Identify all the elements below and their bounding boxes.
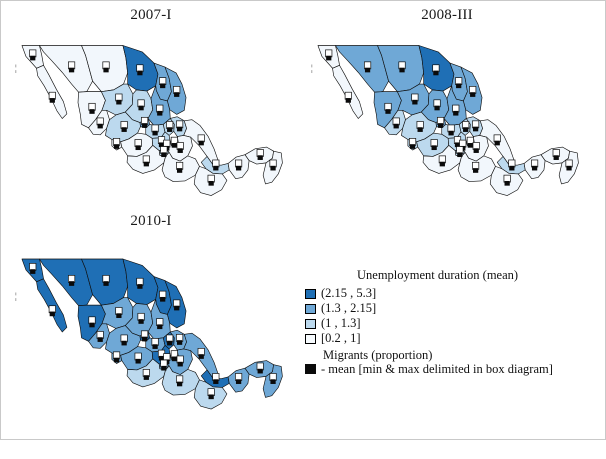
migrant-box-marker (176, 334, 182, 345)
migrant-mean-square (258, 369, 263, 374)
migrant-mean-square (412, 100, 417, 105)
legend-swatch-migrants-mean (305, 364, 316, 374)
migrant-mean-square (167, 341, 172, 346)
migrant-box-marker (141, 117, 147, 128)
migrant-mean-square (138, 106, 143, 111)
map-canvas-2010-i (5, 233, 297, 459)
migrant-mean-square (213, 379, 218, 384)
migrant-mean-square (177, 168, 182, 173)
migrant-mean-square (394, 124, 399, 129)
panel-title-2010-i: 2010-I (5, 213, 297, 230)
migrant-box-marker (137, 278, 143, 289)
migrant-box-marker (412, 94, 418, 105)
migrant-box-marker (437, 117, 443, 128)
migrant-box-marker (566, 160, 572, 171)
map-panel-2010-i: 2010-I (5, 213, 297, 439)
migrant-box-marker (504, 175, 510, 186)
migrant-box-marker (176, 162, 182, 173)
migrant-box-marker (138, 100, 144, 111)
map-canvas-2008-iii (301, 27, 593, 235)
migrant-mean-square (174, 306, 179, 311)
migrant-mean-square (209, 394, 214, 399)
migrant-box-marker (137, 65, 143, 76)
migrant-mean-square (456, 83, 461, 88)
migrant-box-marker (49, 92, 55, 103)
migrant-mean-square (346, 98, 351, 103)
legend-label-class-2: (1.3 , 2.15] (321, 302, 376, 315)
legend-title: Unemployment duration (mean) (357, 269, 601, 282)
migrant-box-marker (453, 105, 459, 116)
migrant-box-marker (166, 335, 172, 346)
legend-item-migrants: - mean [min & max delimited in box diagr… (301, 362, 601, 376)
map-panel-2007-i: 2007-I (5, 7, 297, 215)
migrant-mean-square (270, 166, 275, 171)
migrant-mean-square (410, 144, 415, 149)
migrant-box-marker (473, 142, 479, 153)
migrant-mean-square (236, 379, 241, 384)
migrant-mean-square (473, 127, 478, 132)
migrant-mean-square (69, 281, 74, 286)
migrant-mean-square (438, 123, 443, 128)
migrant-box-marker (431, 140, 437, 151)
migrant-mean-square (418, 127, 423, 132)
migrant-box-marker (235, 160, 241, 171)
migrant-box-marker (326, 50, 332, 61)
migrant-mean-square (457, 152, 462, 157)
migrant-mean-square (30, 56, 35, 61)
mexico-choropleth (5, 233, 297, 438)
map-edge-tick: ¦ (311, 63, 313, 73)
migrant-mean-square (199, 141, 204, 146)
migrant-box-marker (531, 160, 537, 171)
migrant-mean-square (103, 281, 108, 286)
migrant-box-marker (161, 147, 167, 158)
migrant-box-marker (439, 156, 445, 167)
migrant-box-marker (135, 140, 141, 151)
migrant-box-marker (448, 125, 454, 136)
migrant-box-marker (116, 94, 122, 105)
migrant-mean-square (167, 127, 172, 132)
migrant-box-marker (173, 300, 179, 311)
migrant-mean-square (434, 106, 439, 111)
migrant-mean-square (177, 340, 182, 345)
migrant-mean-square (270, 379, 275, 384)
migrant-mean-square (114, 144, 119, 149)
legend-item-class-1: (2.15 , 5.3] (301, 287, 601, 301)
migrant-box-marker (159, 291, 165, 302)
panel-title-2008-iii: 2008-III (301, 7, 593, 24)
migrant-box-marker (393, 118, 399, 129)
migrant-box-marker (433, 65, 439, 76)
migrant-box-marker (49, 306, 55, 317)
migrant-box-marker (462, 121, 468, 132)
migrant-mean-square (432, 145, 437, 150)
migrant-box-marker (161, 360, 167, 371)
migrant-mean-square (474, 148, 479, 153)
map-edge-tick: ¦ (15, 291, 17, 301)
legend: Unemployment duration (mean) (2.15 , 5.3… (301, 269, 601, 389)
migrant-mean-square (152, 344, 157, 349)
migrant-box-marker (455, 78, 461, 89)
migrant-mean-square (473, 168, 478, 173)
migrant-mean-square (199, 354, 204, 359)
migrant-box-marker (113, 138, 119, 149)
migrant-box-marker (457, 147, 463, 158)
migrant-box-marker (177, 142, 183, 153)
migrant-box-marker (89, 317, 95, 328)
migrant-box-marker (208, 389, 214, 400)
migrant-box-marker (141, 331, 147, 342)
migrant-box-marker (173, 86, 179, 97)
legend-migrants-title: Migrants (proportion) (323, 349, 601, 362)
migrant-box-marker (434, 100, 440, 111)
legend-label-class-1: (2.15 , 5.3] (321, 287, 376, 300)
migrant-mean-square (365, 68, 370, 73)
migrant-box-marker (472, 162, 478, 173)
migrant-mean-square (144, 375, 149, 380)
migrant-mean-square (142, 337, 147, 342)
migrant-mean-square (69, 68, 74, 73)
migrant-box-marker (198, 135, 204, 146)
migrant-box-marker (143, 369, 149, 380)
migrant-box-marker (257, 149, 263, 160)
migrant-mean-square (89, 109, 94, 114)
legend-swatch-class-2 (305, 304, 316, 314)
migrant-mean-square (258, 155, 263, 160)
migrant-mean-square (505, 181, 510, 186)
migrant-mean-square (137, 284, 142, 289)
migrant-mean-square (161, 152, 166, 157)
migrant-mean-square (399, 68, 404, 73)
migrant-mean-square (453, 111, 458, 116)
migrant-mean-square (554, 155, 559, 160)
migrant-mean-square (468, 143, 473, 148)
migrant-box-marker (30, 50, 36, 61)
migrant-box-marker (469, 86, 475, 97)
migrant-box-marker (467, 137, 473, 148)
migrant-mean-square (385, 109, 390, 114)
migrant-box-marker (68, 62, 74, 73)
migrant-mean-square (157, 324, 162, 329)
panel-title-2007-i: 2007-I (5, 7, 297, 24)
migrant-box-marker (157, 105, 163, 116)
migrant-box-marker (97, 118, 103, 129)
migrant-mean-square (470, 92, 475, 97)
migrant-mean-square (160, 297, 165, 302)
legend-item-class-4: [0.2 , 1] (301, 332, 601, 346)
mexico-choropleth (301, 27, 593, 217)
migrant-mean-square (116, 100, 121, 105)
migrant-mean-square (509, 166, 514, 171)
migrant-mean-square (236, 166, 241, 171)
migrant-box-marker (68, 275, 74, 286)
migrant-mean-square (178, 148, 183, 153)
legend-label-class-3: (1 , 1.3] (321, 317, 361, 330)
migrant-box-marker (417, 121, 423, 132)
migrant-box-marker (103, 62, 109, 73)
migrant-mean-square (161, 366, 166, 371)
migrant-mean-square (144, 162, 149, 167)
migrant-box-marker (176, 121, 182, 132)
migrant-box-marker (138, 313, 144, 324)
migrant-box-marker (97, 331, 103, 342)
legend-item-class-3: (1 , 1.3] (301, 317, 601, 331)
migrant-mean-square (213, 166, 218, 171)
migrant-box-marker (159, 78, 165, 89)
migrant-mean-square (566, 166, 571, 171)
migrant-mean-square (98, 337, 103, 342)
legend-swatch-class-3 (305, 319, 316, 329)
migrant-mean-square (136, 145, 141, 150)
migrant-box-marker (409, 138, 415, 149)
migrant-mean-square (448, 131, 453, 136)
legend-label-migrants-note: - mean [min & max delimited in box diagr… (321, 363, 553, 376)
migrant-box-marker (171, 137, 177, 148)
migrant-box-marker (257, 363, 263, 374)
migrant-mean-square (98, 124, 103, 129)
migrant-mean-square (209, 181, 214, 186)
legend-swatch-class-1 (305, 289, 316, 299)
migrant-box-marker (509, 160, 515, 171)
map-edge-tick: ¦ (15, 63, 17, 73)
migrant-box-marker (30, 263, 36, 274)
migrant-mean-square (160, 83, 165, 88)
migrant-box-marker (270, 160, 276, 171)
migrant-box-marker (166, 121, 172, 132)
migrant-box-marker (157, 319, 163, 330)
migrant-mean-square (157, 111, 162, 116)
migrant-mean-square (174, 92, 179, 97)
migrant-box-marker (235, 373, 241, 384)
migrant-box-marker (208, 175, 214, 186)
migrant-mean-square (433, 71, 438, 76)
migrant-mean-square (495, 141, 500, 146)
migrant-box-marker (135, 353, 141, 364)
migrant-mean-square (463, 127, 468, 132)
migrant-mean-square (50, 312, 55, 317)
legend-item-class-2: (1.3 , 2.15] (301, 302, 601, 316)
migrant-mean-square (532, 166, 537, 171)
mexico-choropleth (5, 27, 297, 217)
migrant-mean-square (440, 162, 445, 167)
migrant-mean-square (172, 143, 177, 148)
map-panel-2008-iii: 2008-III (301, 7, 593, 215)
migrant-mean-square (122, 127, 127, 132)
migrant-mean-square (89, 323, 94, 328)
legend-label-class-4: [0.2 , 1] (321, 332, 361, 345)
migrant-mean-square (172, 357, 177, 362)
migrant-mean-square (152, 131, 157, 136)
migrant-mean-square (177, 127, 182, 132)
migrant-mean-square (116, 313, 121, 318)
migrant-box-marker (270, 373, 276, 384)
migrant-box-marker (553, 149, 559, 160)
migrant-box-marker (177, 356, 183, 367)
migrant-box-marker (152, 125, 158, 136)
migrant-mean-square (122, 341, 127, 346)
migrant-box-marker (121, 335, 127, 346)
migrant-mean-square (138, 319, 143, 324)
migrant-box-marker (345, 92, 351, 103)
migrant-box-marker (121, 121, 127, 132)
migrant-mean-square (326, 56, 331, 61)
migrant-box-marker (103, 275, 109, 286)
migrant-box-marker (399, 62, 405, 73)
migrant-box-marker (472, 121, 478, 132)
migrant-box-marker (143, 156, 149, 167)
migrant-box-marker (198, 348, 204, 359)
migrant-box-marker (89, 103, 95, 114)
migrant-mean-square (136, 359, 141, 364)
migrant-mean-square (177, 382, 182, 387)
migrant-mean-square (137, 71, 142, 76)
migrant-box-marker (213, 160, 219, 171)
migrant-box-marker (152, 338, 158, 349)
migrant-box-marker (113, 352, 119, 363)
migrant-mean-square (178, 362, 183, 367)
figure-frame: 2007-I 2008-III 2010-I Unemployment dura… (0, 0, 606, 440)
migrant-box-marker (116, 307, 122, 318)
migrant-mean-square (103, 68, 108, 73)
migrant-box-marker (213, 373, 219, 384)
migrant-box-marker (176, 376, 182, 387)
migrant-box-marker (494, 135, 500, 146)
map-canvas-2007-i (5, 27, 297, 235)
migrant-mean-square (114, 358, 119, 363)
migrant-mean-square (30, 269, 35, 274)
migrant-box-marker (385, 103, 391, 114)
legend-swatch-class-4 (305, 334, 316, 344)
migrant-box-marker (364, 62, 370, 73)
migrant-mean-square (50, 98, 55, 103)
migrant-mean-square (142, 123, 147, 128)
migrant-box-marker (171, 351, 177, 362)
